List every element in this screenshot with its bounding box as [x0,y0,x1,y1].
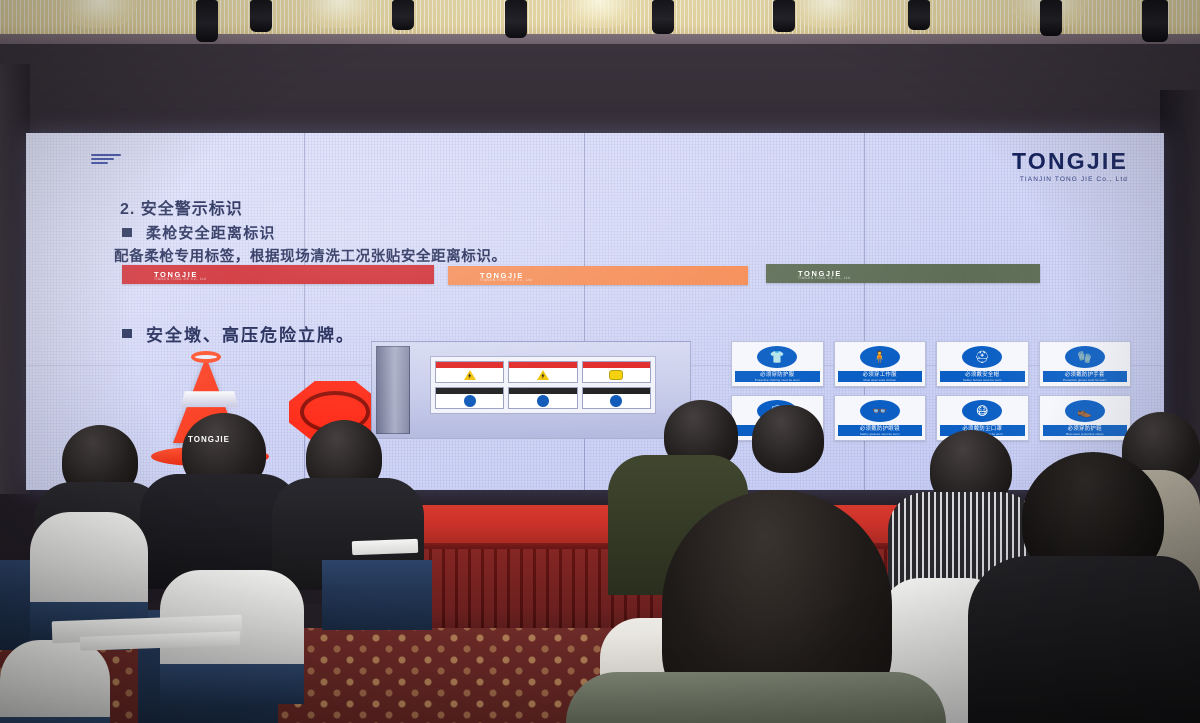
ceiling-spotlight [392,0,414,30]
warning-sign-panel [430,356,656,414]
ceiling-spotlight [1142,0,1168,42]
protective-gloves-icon: 🧤 [1065,346,1105,368]
decorative-lines-icon [91,154,121,166]
strip-sublabel: TIANJIN TONG JIE Co., Ltd [798,276,850,280]
label-strip-orange: TONGJIE TIANJIN TONG JIE Co., Ltd [448,266,748,285]
audience-chair [30,512,148,608]
photo-door [376,346,410,434]
ppe-sign: ⛑ 必须戴安全帽Safety helmet must be worn [936,341,1029,387]
ceiling-spotlight [196,0,218,42]
work-clothes-icon: 🧍 [860,346,900,368]
ppe-sign: 🧍 必须穿工作服Must wear work clothes [834,341,927,387]
ppe-label-en: Must wear protective shoes [1043,433,1128,437]
bullet-item-1: 柔枪安全距离标识 [122,222,276,243]
conference-room-photo: TONGJIE TIANJIN TONG JIE Co., Ltd 2. 安全警… [0,0,1200,723]
label-strip-green: TONGJIE TIANJIN TONG JIE Co., Ltd [766,264,1040,283]
label-strip-red: TONGJIE TIANJIN TONG JIE Co., Ltd [122,265,434,284]
logo-sub-text: TIANJIN TONG JIE Co., Ltd [1012,176,1128,183]
ppe-label-en: Safety helmet must be worn [940,379,1025,383]
audience-chair [0,640,110,723]
ppe-sign: 👓 必须戴防护眼镜Safety glasses must be worn [834,395,927,441]
protective-clothing-icon: 👕 [757,346,797,368]
ceiling-spotlight [652,0,674,34]
strip-sublabel: TIANJIN TONG JIE Co., Ltd [154,277,206,281]
safety-helmet-icon: ⛑ [962,346,1002,368]
bullet-2-label: 安全墩、高压危险立牌。 [146,321,355,346]
ceiling-spotlight [773,0,795,32]
bullet-1-label: 柔枪安全距离标识 [146,222,276,243]
bullet-square-icon [122,228,132,237]
audience-head [752,405,824,473]
ppe-sign: 🧤 必须戴防护手套Protective gloves must be worn [1039,341,1132,387]
dust-mask-icon: 😷 [962,400,1002,422]
caution-sign [582,387,651,409]
tongjie-logo: TONGJIE TIANJIN TONG JIE Co., Ltd [1012,150,1128,183]
ppe-label-en: Safety glasses must be worn [838,433,923,437]
ceiling-spotlight [1040,0,1062,36]
ceiling-spotlight [908,0,930,30]
bullet-square-icon [122,329,132,338]
foreground-body [566,672,946,723]
caution-sign [435,387,504,409]
ceiling-spotlight [250,0,272,32]
cone-brand-label: TONGJIE [169,435,249,444]
warning-sign [435,361,504,383]
warning-sign [508,361,577,383]
safety-sign-wall-photo [371,341,691,439]
warning-sign [582,361,651,383]
ppe-label-en: Protective clothing must be worn [735,379,820,383]
bullet-item-2: 安全墩、高压危险立牌。 [122,321,355,346]
ppe-label-en: Protective gloves must be worn [1043,379,1128,383]
ppe-sign: 👞 必须穿防护鞋Must wear protective shoes [1039,395,1132,441]
ppe-label-en: Must wear work clothes [838,379,923,383]
cone-reflective-band [183,391,235,407]
paper-sheet [352,539,418,555]
cone-top-ring [191,351,221,363]
strip-sublabel: TIANJIN TONG JIE Co., Ltd [480,278,532,282]
caution-sign [508,387,577,409]
safety-glasses-icon: 👓 [860,400,900,422]
foreground-body [968,556,1200,723]
slide-body-text: 配备柔枪专用标签，根据现场清洗工况张贴安全距离标识。 [114,245,507,266]
ceiling-spotlight [505,0,527,38]
protective-shoes-icon: 👞 [1065,400,1105,422]
ppe-sign: 👕 必须穿防护服Protective clothing must be worn [731,341,824,387]
audience-table [322,560,432,630]
slide-title: 2. 安全警示标识 [120,195,243,219]
logo-main-text: TONGJIE [1012,150,1128,173]
